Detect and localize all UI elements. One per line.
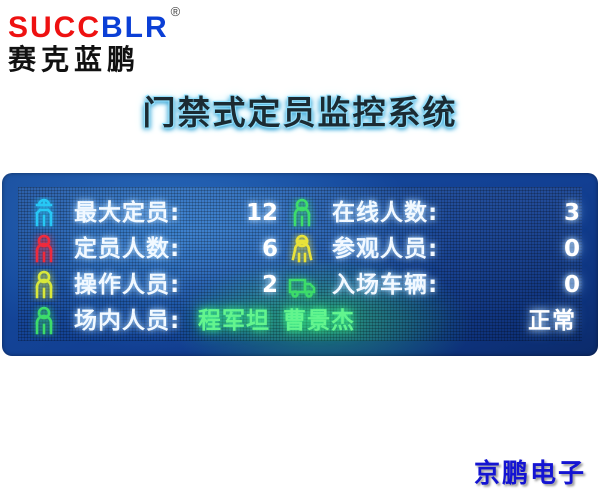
led-value: 3 <box>526 195 580 232</box>
led-cell-max-capacity: 最大定员: 12 <box>28 195 278 232</box>
onsite-name: 曹景杰 <box>283 308 355 334</box>
footer-brand: 京鹏电子 <box>474 453 586 490</box>
led-cell-online-count: 在线人数: 3 <box>286 195 586 232</box>
led-row: 定员人数: 6 <box>2 231 598 268</box>
logo-wordmark-red: SUCC <box>8 11 101 44</box>
led-cell-operator-count: 操作人员: 2 <box>28 267 278 304</box>
status-badge: 正常 <box>496 303 576 340</box>
led-label: 参观人员: <box>332 231 438 268</box>
person-icon <box>28 269 60 302</box>
logo-wordmark-blue: BLR <box>101 11 169 44</box>
led-label: 在线人数: <box>332 195 438 232</box>
led-value: 0 <box>526 267 580 304</box>
page-title: 门禁式定员监控系统 <box>0 86 600 134</box>
led-label: 操作人员: <box>74 267 180 304</box>
led-row: 最大定员: 12 在线人数: 3 <box>2 195 598 232</box>
person-visitor-icon <box>286 233 318 266</box>
person-icon <box>286 197 318 230</box>
led-row: 场内人员: 程军坦曹景杰 正常 <box>2 303 598 340</box>
company-logo: SUCCBLR® 赛克蓝鹏 <box>8 6 248 74</box>
logo-wordmark: SUCCBLR® <box>8 6 248 44</box>
led-rows: 最大定员: 12 在线人数: 3 <box>2 173 598 356</box>
led-label: 定员人数: <box>74 231 180 268</box>
led-cell-vehicle-count: 入场车辆: 0 <box>286 267 586 304</box>
led-label: 入场车辆: <box>332 267 438 304</box>
led-label: 场内人员: <box>74 303 180 340</box>
registered-trademark-icon: ® <box>171 4 183 19</box>
led-value: 6 <box>224 231 278 268</box>
led-value: 2 <box>224 267 278 304</box>
truck-icon <box>286 269 318 302</box>
person-icon <box>28 233 60 266</box>
led-display-panel: 最大定员: 12 在线人数: 3 <box>2 173 598 356</box>
onsite-personnel-names: 程军坦曹景杰 <box>198 303 368 340</box>
logo-chinese-name: 赛克蓝鹏 <box>8 44 248 76</box>
led-row: 操作人员: 2 入场车辆: 0 <box>2 267 598 304</box>
led-cell-registered-count: 定员人数: 6 <box>28 231 278 268</box>
led-cell-visitor-count: 参观人员: 0 <box>286 231 586 268</box>
person-icon <box>28 305 60 338</box>
person-helmet-icon <box>28 197 60 230</box>
led-value: 0 <box>526 231 580 268</box>
led-label: 最大定员: <box>74 195 180 232</box>
onsite-name: 程军坦 <box>198 308 270 334</box>
led-value: 12 <box>224 195 278 232</box>
